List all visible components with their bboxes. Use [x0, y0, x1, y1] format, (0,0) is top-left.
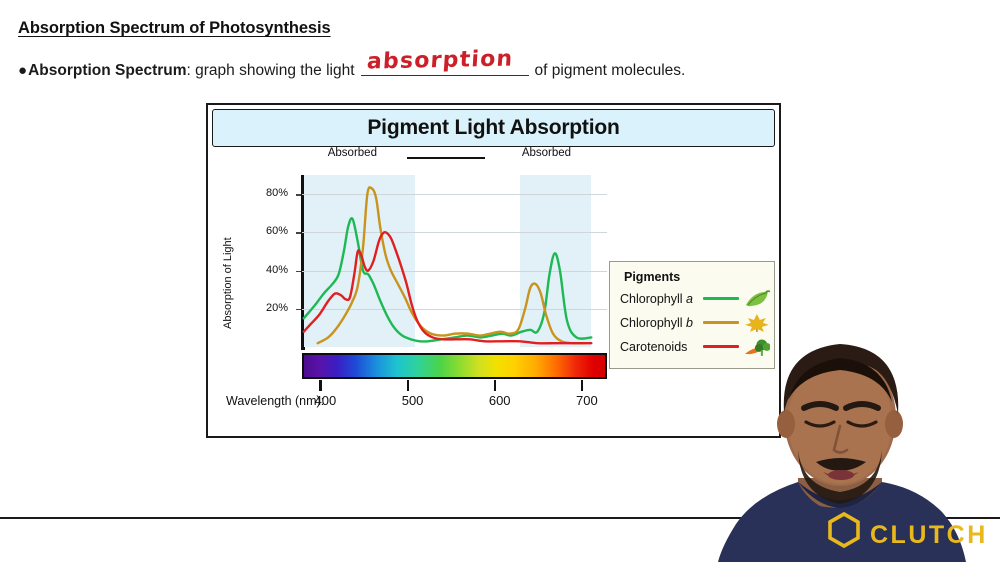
handwritten-answer: absorption [366, 46, 514, 74]
absorbed-label-right: Absorbed [522, 147, 571, 159]
curve-chlorophyll-b [318, 187, 586, 343]
x-tick-mark [581, 380, 584, 391]
absorbed-label-left: Absorbed [328, 147, 377, 159]
legend-title: Pigments [624, 270, 680, 284]
instructor-portrait: CLUTCH [680, 300, 1000, 562]
x-axis-label: Wavelength (nm): [226, 394, 324, 408]
y-axis-label: Absorption of Light [222, 237, 234, 329]
bullet-dot-icon: ● [18, 63, 27, 78]
x-tick-label: 700 [576, 393, 598, 408]
x-tick-label: 500 [402, 393, 424, 408]
blank-underline [361, 75, 529, 77]
shirt-logo-text: CLUTCH [870, 521, 988, 549]
y-tick-label: 40% [252, 264, 288, 276]
bullet-term: Absorption Spectrum [28, 62, 186, 80]
reflected-light-line [407, 157, 485, 159]
instructor-webcam: CLUTCH [680, 300, 1000, 562]
slide-canvas: Absorption Spectrum of Photosynthesis ● … [0, 0, 1000, 562]
visible-spectrum-bar [302, 353, 607, 379]
x-tick-mark [407, 380, 410, 391]
x-tick-label: 600 [489, 393, 511, 408]
absorption-curves [302, 175, 607, 347]
y-tick-label: 80% [252, 187, 288, 199]
figure-title: Pigment Light Absorption [367, 116, 619, 140]
fill-in-blank[interactable]: absorption [361, 57, 529, 75]
bullet-line: ● Absorption Spectrum : graph showing th… [18, 57, 685, 80]
bullet-middle-text: : graph showing the light [187, 62, 355, 80]
figure-title-bar: Pigment Light Absorption [212, 109, 775, 147]
plot-axes: Absorbed Absorbed [302, 175, 607, 347]
x-tick-mark [494, 380, 497, 391]
y-tick-label: 20% [252, 302, 288, 314]
x-tick-mark [319, 380, 322, 391]
y-tick-label: 60% [252, 225, 288, 237]
bullet-tail-text: of pigment molecules. [535, 62, 686, 80]
page-title: Absorption Spectrum of Photosynthesis [18, 19, 331, 38]
